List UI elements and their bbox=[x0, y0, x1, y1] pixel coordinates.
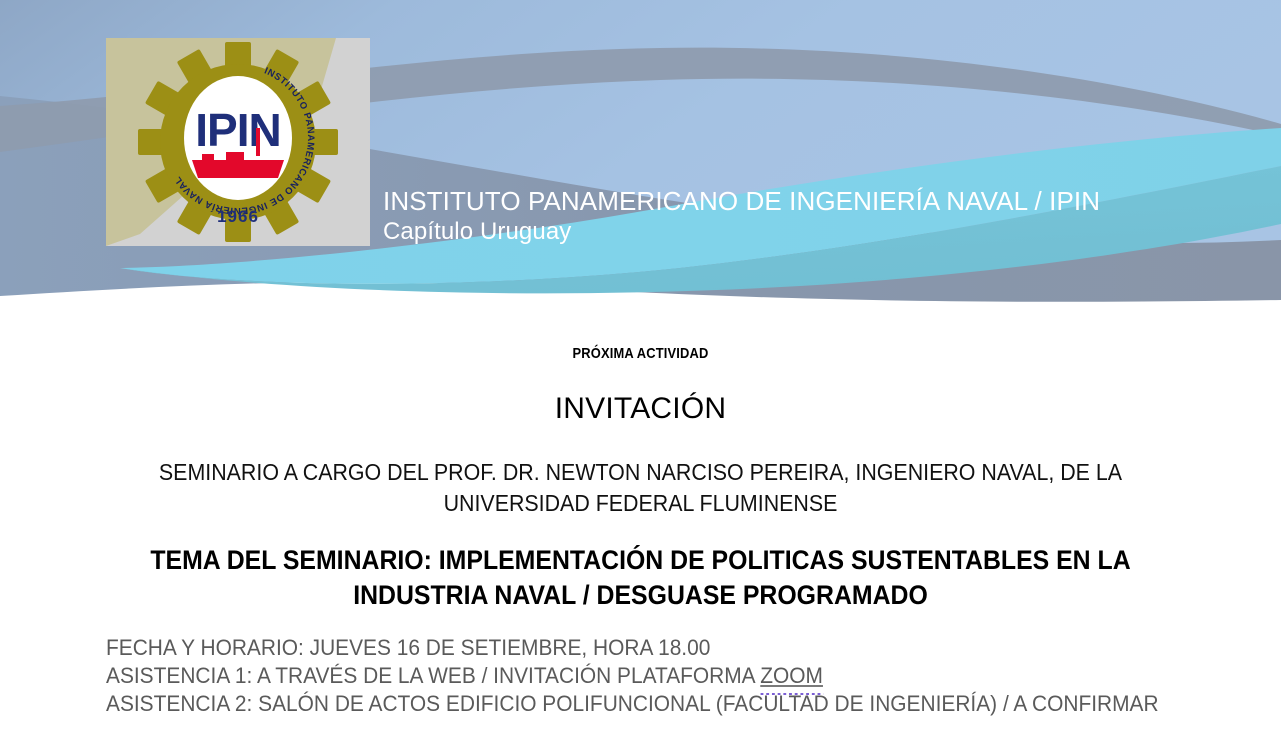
detail-attendance-1: ASISTENCIA 1: A TRAVÉS DE LA WEB / INVIT… bbox=[106, 662, 1170, 690]
speaker-line-1: SEMINARIO A CARGO DEL PROF. DR. NEWTON N… bbox=[129, 457, 1153, 488]
zoom-platform-link[interactable]: ZOOM bbox=[760, 663, 823, 688]
seminar-topic: TEMA DEL SEMINARIO: IMPLEMENTACIÓN DE PO… bbox=[116, 543, 1166, 613]
event-details: FECHA Y HORARIO: JUEVES 16 DE SETIEMBRE,… bbox=[106, 634, 1170, 718]
ipin-logo-graphic: INSTITUTO PANAMERICANO DE INGENIERÍA NAV… bbox=[106, 38, 370, 246]
page-title: INVITACIÓN bbox=[0, 392, 1281, 426]
chapter-name: Capítulo Uruguay bbox=[383, 217, 1203, 247]
detail-attendance-2: ASISTENCIA 2: SALÓN DE ACTOS EDIFICIO PO… bbox=[106, 690, 1170, 718]
speaker-description: SEMINARIO A CARGO DEL PROF. DR. NEWTON N… bbox=[129, 457, 1153, 519]
detail-attendance-1-prefix: ASISTENCIA 1: A TRAVÉS DE LA WEB / INVIT… bbox=[106, 663, 760, 688]
header-banner: INSTITUTO PANAMERICANO DE INGENIERÍA NAV… bbox=[0, 0, 1281, 320]
speaker-line-2: UNIVERSIDAD FEDERAL FLUMINENSE bbox=[129, 488, 1153, 519]
logo-year: 1966 bbox=[217, 207, 259, 226]
header-title-block: INSTITUTO PANAMERICANO DE INGENIERÍA NAV… bbox=[383, 186, 1203, 247]
kicker-next-activity: PRÓXIMA ACTIVIDAD bbox=[90, 345, 1192, 362]
main-content: PRÓXIMA ACTIVIDAD INVITACIÓN SEMINARIO A… bbox=[0, 320, 1281, 754]
organization-name: INSTITUTO PANAMERICANO DE INGENIERÍA NAV… bbox=[383, 186, 1203, 217]
topic-line-2: INDUSTRIA NAVAL / DESGUASE PROGRAMADO bbox=[116, 578, 1166, 613]
logo-acronym: IPIN bbox=[195, 104, 280, 156]
ipin-logo: INSTITUTO PANAMERICANO DE INGENIERÍA NAV… bbox=[106, 38, 370, 246]
topic-line-1: TEMA DEL SEMINARIO: IMPLEMENTACIÓN DE PO… bbox=[116, 543, 1166, 578]
detail-date-time: FECHA Y HORARIO: JUEVES 16 DE SETIEMBRE,… bbox=[106, 634, 1170, 662]
